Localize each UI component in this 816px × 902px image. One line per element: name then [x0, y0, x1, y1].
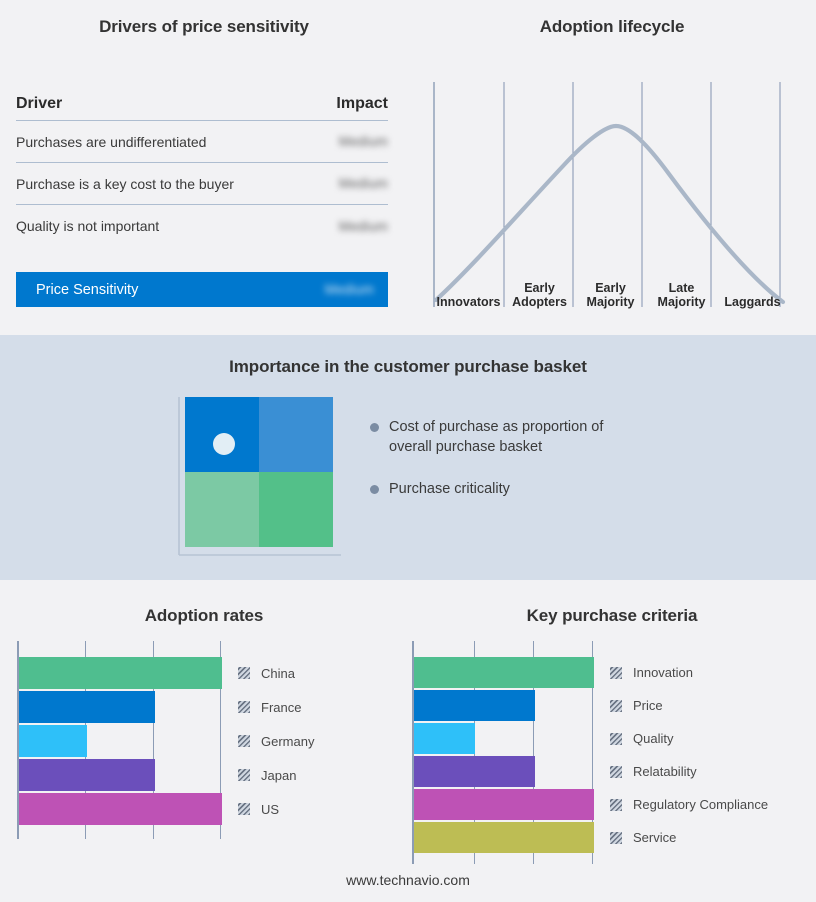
lifecycle-stage-laggards: Laggards	[717, 275, 788, 311]
lifecycle-curve-svg	[433, 82, 788, 307]
bar-innovation	[414, 657, 594, 688]
legend-item-innovation: Innovation	[610, 657, 768, 688]
impact-value: Medium	[322, 134, 388, 149]
bar-japan	[19, 759, 155, 791]
hatched-square-icon	[238, 667, 250, 679]
bar-row	[414, 657, 594, 688]
driver-label: Purchase is a key cost to the buyer	[16, 176, 234, 192]
bar-row	[414, 789, 594, 820]
legend-label: Relatability	[633, 764, 697, 779]
table-row: Purchase is a key cost to the buyer Medi…	[16, 163, 388, 205]
price-sensitivity-row: Price Sensitivity Medium	[16, 272, 388, 307]
legend-label: China	[261, 666, 295, 681]
legend-label: US	[261, 802, 279, 817]
driver-label: Purchases are undifferentiated	[16, 134, 206, 150]
legend-label: Quality	[633, 731, 673, 746]
infographic-page: Drivers of price sensitivity Driver Impa…	[0, 0, 816, 902]
lifecycle-stage-early-majority: Early Majority	[575, 275, 646, 311]
price-sensitivity-label: Price Sensitivity	[36, 282, 138, 298]
hatched-square-icon	[238, 769, 250, 781]
hatched-square-icon	[238, 803, 250, 815]
basket-panel: Importance in the customer purchase bask…	[0, 335, 816, 580]
lifecycle-stage-innovators: Innovators	[433, 275, 504, 311]
lifecycle-panel: Adoption lifecycle Innovators Early Adop…	[408, 0, 816, 335]
legend-item-quality: Quality	[610, 723, 768, 754]
legend-item-relatability: Relatability	[610, 756, 768, 787]
bar-row	[19, 725, 222, 757]
criteria-bars	[414, 657, 594, 853]
adoption-rates-title: Adoption rates	[0, 606, 408, 626]
bar-row	[19, 793, 222, 825]
lifecycle-stage-late-majority: Late Majority	[646, 275, 717, 311]
position-dot-icon	[213, 433, 235, 455]
hatched-square-icon	[610, 733, 622, 745]
bar-relatability	[414, 756, 535, 787]
lifecycle-stage-early-adopters: Early Adopters	[504, 275, 575, 311]
bar-france	[19, 691, 155, 723]
legend-label: Innovation	[633, 665, 693, 680]
quadrant-top-right	[259, 397, 333, 472]
adoption-legend: China France Germany Japan US	[238, 641, 314, 839]
hatched-square-icon	[238, 701, 250, 713]
legend-item-price: Price	[610, 690, 768, 721]
legend-item-germany: Germany	[238, 725, 314, 757]
legend-item-regulatory-compliance: Regulatory Compliance	[610, 789, 768, 820]
quadrant-top-left	[185, 397, 259, 472]
bar-row	[414, 723, 594, 754]
criteria-plot-area	[412, 641, 594, 864]
bar-row	[414, 822, 594, 853]
hatched-square-icon	[610, 700, 622, 712]
table-row: Purchases are undifferentiated Medium	[16, 121, 388, 163]
legend-item-japan: Japan	[238, 759, 314, 791]
column-header-impact: Impact	[322, 95, 388, 113]
lifecycle-chart	[433, 82, 788, 307]
hatched-square-icon	[610, 832, 622, 844]
lifecycle-stage-labels: Innovators Early Adopters Early Majority…	[433, 275, 788, 311]
bar-row	[414, 756, 594, 787]
quadrant-grid	[185, 397, 333, 547]
legend-item-us: US	[238, 793, 314, 825]
legend-item: Purchase criticality	[370, 479, 700, 499]
legend-item-france: France	[238, 691, 314, 723]
bullet-icon	[370, 485, 379, 494]
bar-germany	[19, 725, 87, 757]
column-header-driver: Driver	[16, 95, 62, 113]
key-purchase-criteria-chart: Innovation Price Quality Relatability Re…	[412, 641, 768, 864]
legend-label: France	[261, 700, 301, 715]
quadrant-bottom-left	[185, 472, 259, 547]
adoption-plot-area	[17, 641, 222, 839]
basket-legend: Cost of purchase as proportion of overal…	[370, 417, 700, 521]
hatched-square-icon	[238, 735, 250, 747]
hatched-square-icon	[610, 766, 622, 778]
impact-value: Medium	[322, 176, 388, 191]
table-row: Quality is not important Medium	[16, 205, 388, 247]
bar-regulatory-compliance	[414, 789, 594, 820]
key-purchase-criteria-title: Key purchase criteria	[408, 606, 816, 626]
lifecycle-title: Adoption lifecycle	[408, 17, 816, 37]
footer-url: www.technavio.com	[0, 872, 816, 888]
bar-service	[414, 822, 594, 853]
bar-china	[19, 657, 222, 689]
price-sensitivity-impact: Medium	[325, 282, 374, 297]
impact-value: Medium	[322, 219, 388, 234]
adoption-bars	[19, 657, 222, 825]
quadrant-chart	[178, 397, 343, 557]
criteria-legend: Innovation Price Quality Relatability Re…	[610, 641, 768, 864]
drivers-title: Drivers of price sensitivity	[0, 17, 408, 37]
lifecycle-gridlines	[434, 82, 780, 307]
legend-item: Cost of purchase as proportion of overal…	[370, 417, 700, 457]
basket-title: Importance in the customer purchase bask…	[0, 357, 816, 377]
bar-row	[19, 691, 222, 723]
legend-label: Service	[633, 830, 676, 845]
bar-row	[19, 657, 222, 689]
bar-row	[414, 690, 594, 721]
drivers-table: Driver Impact Purchases are undifferenti…	[16, 88, 388, 247]
hatched-square-icon	[610, 667, 622, 679]
hatched-square-icon	[610, 799, 622, 811]
legend-item-service: Service	[610, 822, 768, 853]
bar-row	[19, 759, 222, 791]
legend-label: Germany	[261, 734, 314, 749]
legend-label: Price	[633, 698, 663, 713]
drivers-panel: Drivers of price sensitivity Driver Impa…	[0, 0, 408, 335]
table-header-row: Driver Impact	[16, 88, 388, 121]
bar-us	[19, 793, 222, 825]
bar-quality	[414, 723, 475, 754]
bullet-icon	[370, 423, 379, 432]
legend-item-china: China	[238, 657, 314, 689]
quadrant-bottom-right	[259, 472, 333, 547]
driver-label: Quality is not important	[16, 218, 159, 234]
legend-label: Cost of purchase as proportion of overal…	[389, 417, 649, 457]
legend-label: Japan	[261, 768, 296, 783]
legend-label: Purchase criticality	[389, 479, 510, 499]
bar-price	[414, 690, 535, 721]
adoption-rates-chart: China France Germany Japan US	[17, 641, 314, 839]
legend-label: Regulatory Compliance	[633, 797, 768, 812]
